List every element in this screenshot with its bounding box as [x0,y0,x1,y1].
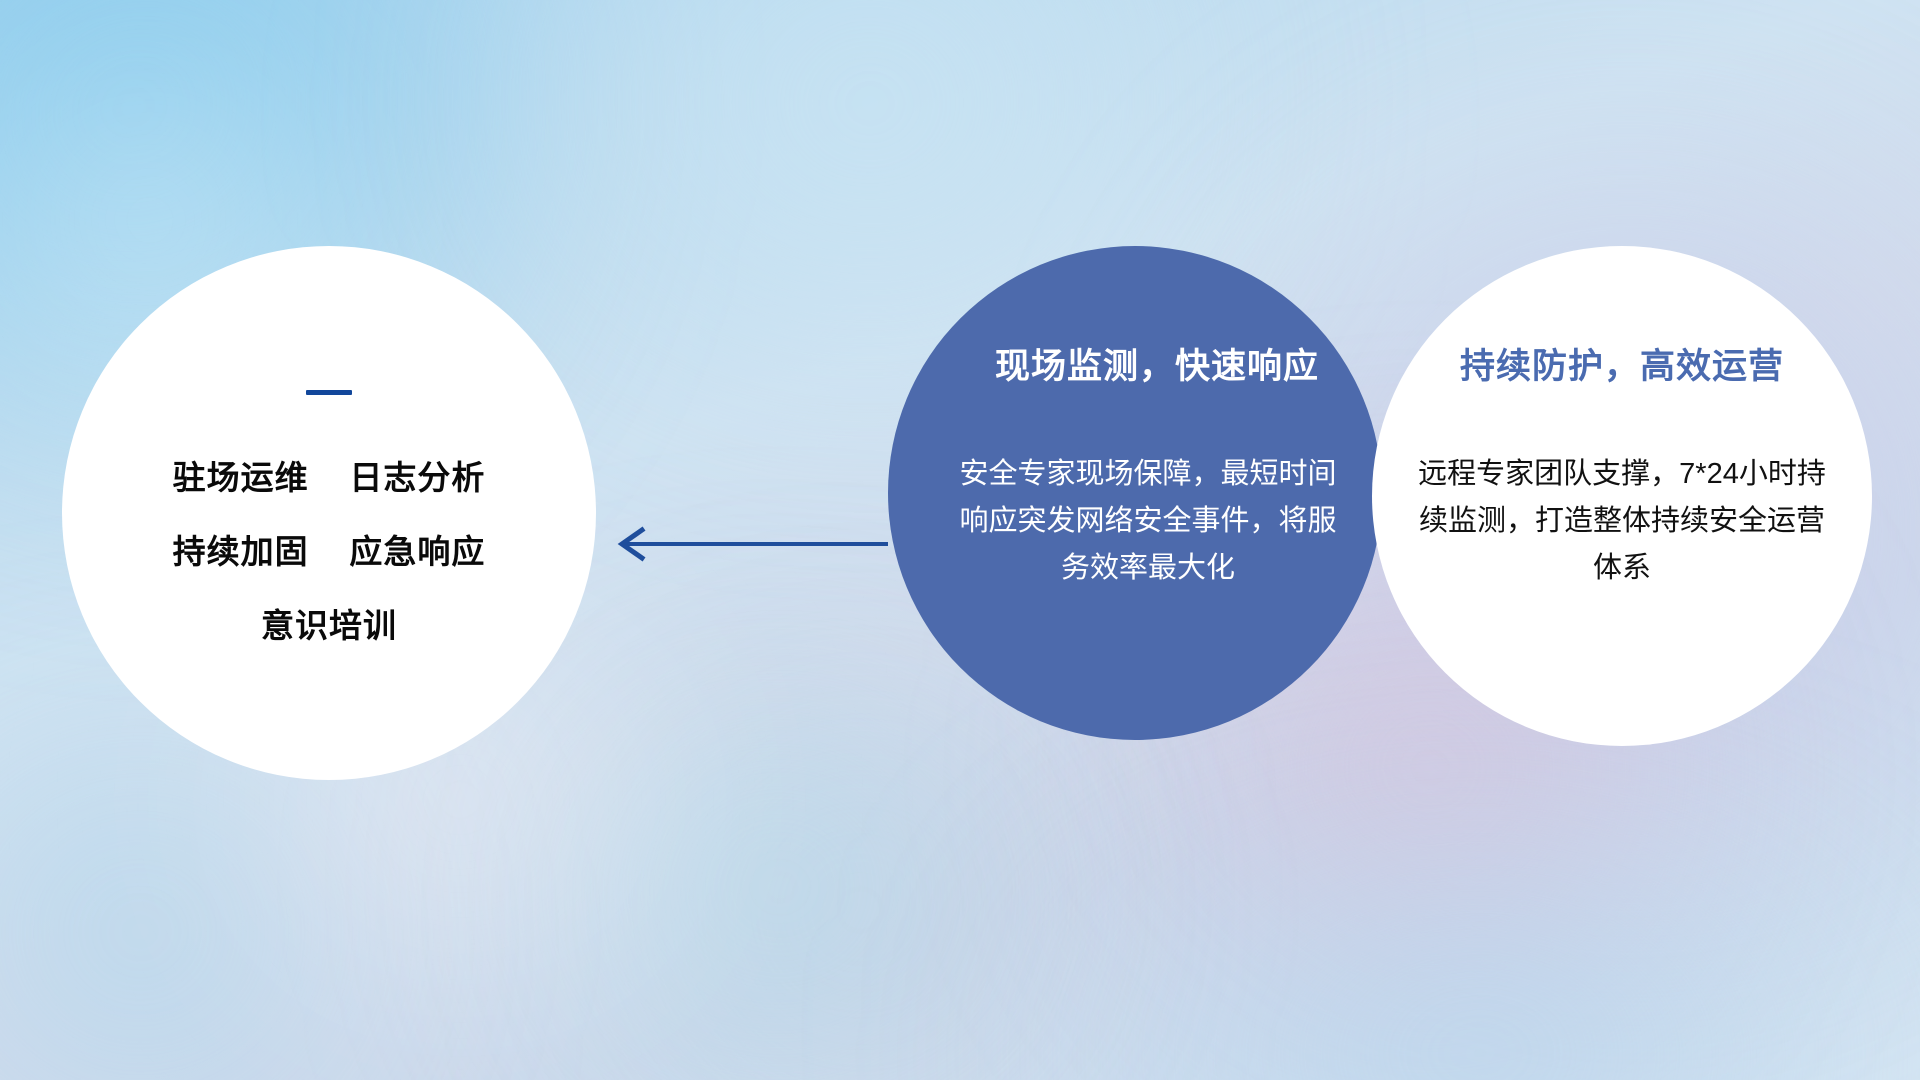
onsite-monitoring-circle[interactable]: 现场监测，快速响应 安全专家现场保障，最短时间响应突发网络安全事件，将服务效率最… [888,246,1382,740]
continuous-protection-circle[interactable]: 持续防护，高效运营 远程专家团队支撑，7*24小时持续监测，打造整体持续安全运营… [1372,246,1872,746]
onsite-monitoring-title: 现场监测，快速响应 [995,338,1319,389]
onsite-monitoring-body: 安全专家现场保障，最短时间响应突发网络安全事件，将服务效率最大化 [953,451,1343,592]
capabilities-line-2: 持续加固 应急响应 [173,533,486,571]
slide-canvas: 驻场运维 日志分析 持续加固 应急响应 意识培训 现场监测，快速响应 安全专家现… [0,0,1920,1080]
capabilities-circle[interactable]: 驻场运维 日志分析 持续加固 应急响应 意识培训 [62,246,596,780]
left-arrow-connector [600,522,890,566]
continuous-protection-content: 持续防护，高效运营 远程专家团队支撑，7*24小时持续监测，打造整体持续安全运营… [1372,246,1872,592]
continuous-protection-body: 远程专家团队支撑，7*24小时持续监测，打造整体持续安全运营体系 [1417,451,1827,592]
capabilities-content: 驻场运维 日志分析 持续加固 应急响应 意识培训 [62,246,596,645]
continuous-protection-title: 持续防护，高效运营 [1460,338,1784,389]
onsite-monitoring-content: 现场监测，快速响应 安全专家现场保障，最短时间响应突发网络安全事件，将服务效率最… [888,246,1382,592]
capabilities-line-1: 驻场运维 日志分析 [173,459,486,497]
arrow-left-icon [600,522,890,566]
capabilities-line-3: 意识培训 [261,607,397,645]
accent-dash-divider [306,390,352,395]
